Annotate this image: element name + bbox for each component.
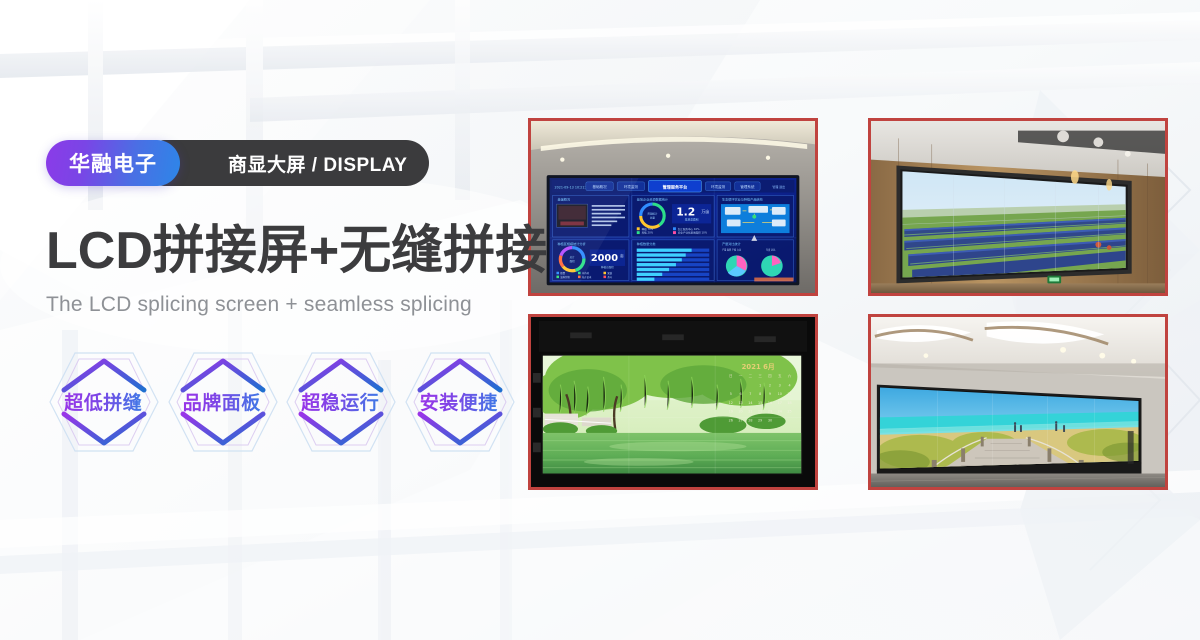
svg-text:亩: 亩 [620,253,624,258]
svg-text:10: 10 [778,392,782,396]
svg-text:24: 24 [778,410,782,414]
svg-text:9: 9 [769,392,771,396]
feature-badge-3: 超稳运行 [283,347,398,457]
svg-text:养殖 20%: 养殖 20% [642,231,654,235]
feature-badge-label: 品牌面板 [183,388,261,415]
svg-text:13: 13 [738,401,742,405]
svg-text:资源统计: 资源统计 [647,212,658,216]
banner-stage: 商显大屏 / DISPLAY 华融电子 LCD拼接屏+无缝拼接 The LCD … [0,0,1200,640]
svg-text:6: 6 [740,392,742,396]
svg-text:14: 14 [748,401,752,405]
svg-text:11: 11 [787,392,791,396]
svg-text:二: 二 [749,374,753,378]
svg-text:2021 6月: 2021 6月 [742,363,775,371]
photo-solarfarm-video-wall[interactable]: 木饰面会议厅超窄边 LCD 拼接大屏 — 光伏电站航拍画面 [868,118,1168,296]
svg-text:管理系统: 管理系统 [740,184,755,189]
svg-text:产量对比统计: 产量对比统计 [722,241,741,246]
svg-text:15: 15 [758,401,762,405]
svg-text:1: 1 [759,384,761,388]
svg-text:20: 20 [738,410,742,414]
brand-category-label: 商显大屏 / DISPLAY [142,140,429,186]
svg-text:种植总面积: 种植总面积 [601,265,614,269]
page-title: LCD拼接屏+无缝拼接 [46,224,516,279]
svg-text:六: 六 [788,373,792,378]
svg-text:环境监测: 环境监测 [711,184,726,189]
feature-badge-2: 品牌面板 [165,347,280,457]
svg-text:12: 12 [729,401,733,405]
svg-text:产量 面积 产值 占比: 产量 面积 产值 占比 [722,248,741,252]
svg-text:8: 8 [759,392,761,396]
photo-dashboard-video-wall[interactable]: 2021-09-13 10:21:27 基础概况 环境监测 环境监测 管理系统 [528,118,818,296]
svg-text:21: 21 [748,410,752,414]
svg-text:三: 三 [758,374,762,378]
page-subtitle: The LCD splicing screen + seamless splic… [46,293,516,317]
svg-text:2: 2 [769,384,771,388]
svg-text:农业产业化基地面积 10%: 农业产业化基地面积 10% [678,231,708,235]
feature-badge-4: 安装便捷 [402,347,517,457]
svg-text:基地总面积: 基地总面积 [685,218,699,222]
photo-beach-video-wall[interactable]: 大厅弧形吊顶下的大尺寸拼接屏 — 海滨栈道画面 [868,314,1168,490]
svg-text:总量: 总量 [650,216,656,220]
svg-text:年度 对比: 年度 对比 [766,248,775,252]
svg-text:一: 一 [739,374,743,378]
svg-text:果蔬: 果蔬 [607,271,612,275]
banner-copy-column: 商显大屏 / DISPLAY 华融电子 LCD拼接屏+无缝拼接 The LCD … [46,140,516,457]
svg-text:3: 3 [779,384,781,388]
feature-badge-list: 超低拼缝 品牌面板 [46,347,516,457]
svg-text:28: 28 [748,418,752,422]
svg-text:管理服务平台: 管理服务平台 [663,183,688,189]
feature-badge-label: 安装便捷 [420,388,498,415]
svg-text:万亩: 万亩 [701,209,709,214]
svg-text:五: 五 [778,374,782,378]
svg-text:种植 70%: 种植 70% [642,227,654,231]
svg-text:27: 27 [738,418,742,422]
svg-text:4: 4 [788,384,790,388]
svg-text:18: 18 [787,401,791,405]
svg-text:生态循环农业与种植产品结构: 生态循环农业与种植产品结构 [722,197,763,202]
svg-text:25: 25 [787,410,791,414]
svg-text:17: 17 [778,401,782,405]
feature-badge-1: 超低拼缝 [46,347,161,457]
feature-badge-label: 超低拼缝 [64,388,142,415]
svg-text:四: 四 [768,374,772,378]
svg-text:5: 5 [730,392,732,396]
svg-text:茶叶: 茶叶 [607,275,612,279]
svg-text:种植数量分类: 种植数量分类 [637,241,656,246]
svg-text:16: 16 [768,401,772,405]
feature-badge-label: 超稳运行 [301,388,379,415]
brand-badge: 商显大屏 / DISPLAY 华融电子 [46,140,180,186]
svg-text:管理 退出: 管理 退出 [772,184,785,189]
brand-name-chip: 华融电子 [46,140,180,186]
svg-text:22: 22 [758,410,762,414]
svg-text:7: 7 [749,392,751,396]
svg-text:30: 30 [768,418,772,422]
svg-text:23: 23 [768,410,772,414]
product-photo-grid: 2021-09-13 10:21:27 基础概况 环境监测 环境监测 管理系统 [528,118,1168,490]
svg-text:19: 19 [729,410,733,414]
svg-text:加工服务中心 10%: 加工服务中心 10% [678,227,700,231]
svg-text:基地企业资源数据统计: 基地企业资源数据统计 [637,197,668,202]
svg-text:26: 26 [729,418,733,422]
svg-text:日: 日 [729,374,733,378]
photo-park-video-wall[interactable]: 2021 6月 日一二 三四五六 1234 567891011 12131415… [528,314,818,490]
svg-text:29: 29 [758,418,762,422]
